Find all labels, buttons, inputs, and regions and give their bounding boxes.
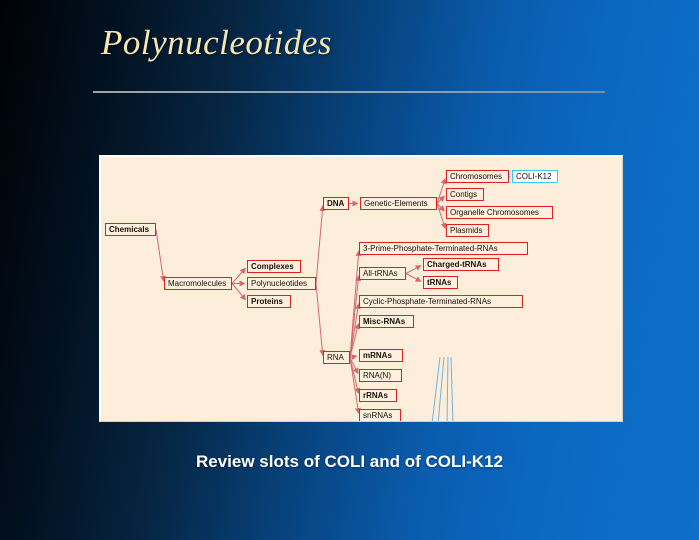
- node-plasmids[interactable]: Plasmids: [446, 224, 489, 237]
- node-coli-k12[interactable]: COLI-K12: [512, 170, 558, 183]
- node-rrnas[interactable]: rRNAs: [359, 389, 397, 402]
- node-genetic[interactable]: Genetic-Elements: [360, 197, 437, 210]
- edge-polynucleotides-to-dna: [316, 206, 323, 284]
- edge-alltrnas-to-trnas: [406, 274, 421, 282]
- title-divider: [93, 91, 605, 93]
- node-contigs[interactable]: Contigs: [446, 188, 484, 201]
- edge-alltrnas-to-charged: [406, 266, 421, 274]
- slide-caption: Review slots of COLI and of COLI-K12: [0, 452, 699, 472]
- node-macromolecules[interactable]: Macromolecules: [164, 277, 232, 290]
- rna-strand-line-2: [447, 357, 448, 422]
- page-title: Polynucleotides: [101, 23, 332, 63]
- rna-strand-line-3: [451, 357, 453, 422]
- edge-rna-to-cyclic: [350, 304, 359, 358]
- node-polynucleotides[interactable]: Polynucleotides: [247, 277, 316, 290]
- node-dna[interactable]: DNA: [323, 197, 349, 210]
- diagram-panel: ChemicalsMacromoleculesComplexesPolynucl…: [99, 155, 623, 422]
- edge-rna-to-mrnas: [350, 356, 357, 357]
- edge-rna-to-alltrnas: [350, 276, 359, 358]
- node-trnas[interactable]: tRNAs: [423, 276, 458, 289]
- node-complexes[interactable]: Complexes: [247, 260, 301, 273]
- node-proteins[interactable]: Proteins: [247, 295, 291, 308]
- node-charged[interactable]: Charged-tRNAs: [423, 258, 499, 271]
- node-mrnas[interactable]: mRNAs: [359, 349, 403, 362]
- edge-polynucleotides-to-rna: [316, 284, 323, 356]
- edge-macromolecules-to-proteins: [232, 284, 245, 300]
- node-3prime[interactable]: 3-Prime-Phosphate-Terminated-RNAs: [359, 242, 528, 255]
- node-rnan[interactable]: RNA(N): [359, 369, 402, 382]
- node-chemicals[interactable]: Chemicals: [105, 223, 156, 236]
- node-chromosomes[interactable]: Chromosomes: [446, 170, 509, 183]
- node-snrnas[interactable]: snRNAs: [359, 409, 401, 422]
- slide-canvas: Polynucleotides ChemicalsMacromoleculesC…: [0, 0, 699, 540]
- node-alltrnas[interactable]: All-tRNAs: [359, 267, 406, 280]
- node-misc[interactable]: Misc-RNAs: [359, 315, 414, 328]
- edge-macromolecules-to-complexes: [232, 268, 245, 283]
- node-organelle[interactable]: Organelle Chromosomes: [446, 206, 553, 219]
- node-cyclic[interactable]: Cyclic-Phosphate-Terminated-RNAs: [359, 295, 523, 308]
- node-rna[interactable]: RNA: [323, 351, 350, 364]
- edge-chemicals-to-macromolecules: [156, 230, 164, 282]
